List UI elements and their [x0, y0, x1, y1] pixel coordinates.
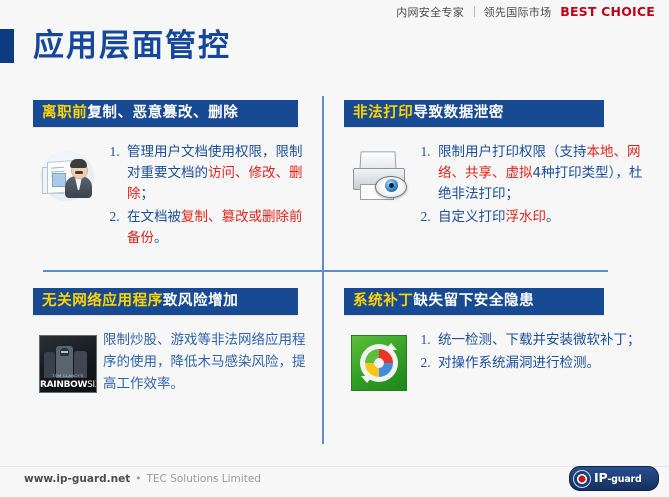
ip-guard-wordmark: IP-guard	[594, 472, 642, 485]
body-text: 统一检测、下载并安装微软补丁；	[438, 332, 641, 348]
list-item: 统一检测、下载并安装微软补丁；	[434, 329, 644, 351]
section-heading-4: 系统补丁缺失留下安全隐患	[344, 288, 604, 315]
list-item: 管理用户文档使用权限，限制对重要文档的访问、修改、删除；	[123, 141, 315, 205]
tagline-divider	[474, 6, 475, 17]
panel-network-app-control: 无关网络应用程序致风险增加 TOM CLANCY'S RAINBOWSIX 限制…	[33, 288, 315, 438]
heading-highlight: 离职前	[42, 105, 87, 121]
item-list-3: 限制炒股、游戏等非法网络应用程序的使用，降低木马感染风险，提高工作效率。	[103, 329, 315, 395]
body-text: 自定义打印	[438, 209, 506, 225]
heading-rest: 导致数据泄密	[413, 105, 504, 121]
icon-slot-3: TOM CLANCY'S RAINBOWSIX	[33, 329, 103, 393]
body-text: ；	[141, 186, 155, 202]
emphasis-text: 浮水印	[506, 209, 547, 225]
text-slot-3: 限制炒股、游戏等非法网络应用程序的使用，降低木马感染风险，提高工作效率。	[103, 329, 315, 395]
body-text: 。	[546, 209, 560, 225]
body-text: 限制炒股、游戏等非法网络应用程序的使用，降低木马感染风险，提高工作效率。	[103, 332, 306, 392]
game-cover-icon: TOM CLANCY'S RAINBOWSIX	[39, 335, 97, 393]
heading-rest: 缺失留下安全隐患	[413, 293, 534, 309]
header-tagline: 内网安全专家 领先国际市场 BEST CHOICE	[396, 4, 655, 20]
ip-guard-mark-icon	[573, 470, 591, 488]
game-brand-text: TOM CLANCY'S	[40, 374, 96, 378]
footer-company: TEC Solutions Limited	[146, 473, 260, 485]
body-text: 在文档被	[127, 209, 181, 225]
panel-patch-management: 系统补丁缺失留下安全隐患 统一检测、下载并安装微软补丁；对操作系统漏洞进行检测。	[344, 288, 644, 438]
text-slot-1: 管理用户文档使用权限，限制对重要文档的访问、修改、删除；在文档被复制、篡改或删除…	[103, 141, 315, 250]
list-item: 对操作系统漏洞进行检测。	[434, 352, 644, 374]
list-item: 在文档被复制、篡改或删除前备份。	[123, 206, 315, 249]
heading-rest: 致风险增加	[163, 293, 239, 309]
heading-highlight: 无关网络应用程序	[42, 293, 163, 309]
body-text: 。	[154, 230, 168, 246]
item-list-4: 统一检测、下载并安装微软补丁；对操作系统漏洞进行检测。	[414, 329, 644, 374]
section-heading-2: 非法打印导致数据泄密	[344, 100, 604, 127]
panel-print-control: 非法打印导致数据泄密 限制用户打印权限（支持本地、网络、共享、虚拟4种打印类型）…	[344, 100, 644, 265]
list-item: 限制用户打印权限（支持本地、网络、共享、虚拟4种打印类型），杜绝非法打印；	[434, 141, 644, 205]
printer-eye-icon	[348, 147, 410, 203]
game-title-text: RAINBOWSIX	[40, 380, 96, 390]
tagline-part-1: 内网安全专家	[396, 6, 464, 19]
footer-url[interactable]: www.ip-guard.net	[24, 473, 130, 485]
footer-separator: •	[135, 473, 141, 485]
item-list-2: 限制用户打印权限（支持本地、网络、共享、虚拟4种打印类型），杜绝非法打印；自定义…	[414, 141, 644, 228]
horizontal-divider	[43, 270, 608, 272]
text-slot-2: 限制用户打印权限（支持本地、网络、共享、虚拟4种打印类型），杜绝非法打印；自定义…	[414, 141, 644, 229]
heading-rest: 复制、恶意篡改、删除	[87, 105, 238, 121]
footer-rule	[0, 466, 669, 467]
icon-slot-2	[344, 141, 414, 203]
footer-text: www.ip-guard.net•TEC Solutions Limited	[24, 473, 261, 485]
user-documents-icon	[38, 147, 98, 205]
slide-canvas: 内网安全专家 领先国际市场 BEST CHOICE 应用层面管控 离职前复制、恶…	[0, 0, 669, 497]
body-text: 对操作系统漏洞进行检测。	[438, 355, 600, 371]
page-title: 应用层面管控	[33, 26, 231, 66]
item-list-1: 管理用户文档使用权限，限制对重要文档的访问、修改、删除；在文档被复制、篡改或删除…	[103, 141, 315, 249]
section-heading-1: 离职前复制、恶意篡改、删除	[33, 100, 298, 127]
icon-slot-1	[33, 141, 103, 205]
panel-document-control: 离职前复制、恶意篡改、删除 管理用户文档使用权限，限制对重要文档的访问、修改、删…	[33, 100, 315, 265]
section-heading-3: 无关网络应用程序致风险增加	[33, 288, 298, 315]
heading-highlight: 系统补丁	[353, 293, 413, 309]
title-accent-bar	[0, 29, 14, 63]
icon-slot-4	[344, 329, 414, 391]
text-slot-4: 统一检测、下载并安装微软补丁；对操作系统漏洞进行检测。	[414, 329, 644, 375]
list-item: 自定义打印浮水印。	[434, 206, 644, 228]
best-choice-label: BEST CHOICE	[560, 4, 655, 19]
windows-update-icon	[351, 335, 407, 391]
ip-guard-logo: IP-guard	[569, 466, 659, 491]
body-text: 限制用户打印权限（支持	[438, 144, 587, 160]
heading-highlight: 非法打印	[353, 105, 413, 121]
tagline-part-2: 领先国际市场	[484, 6, 552, 19]
